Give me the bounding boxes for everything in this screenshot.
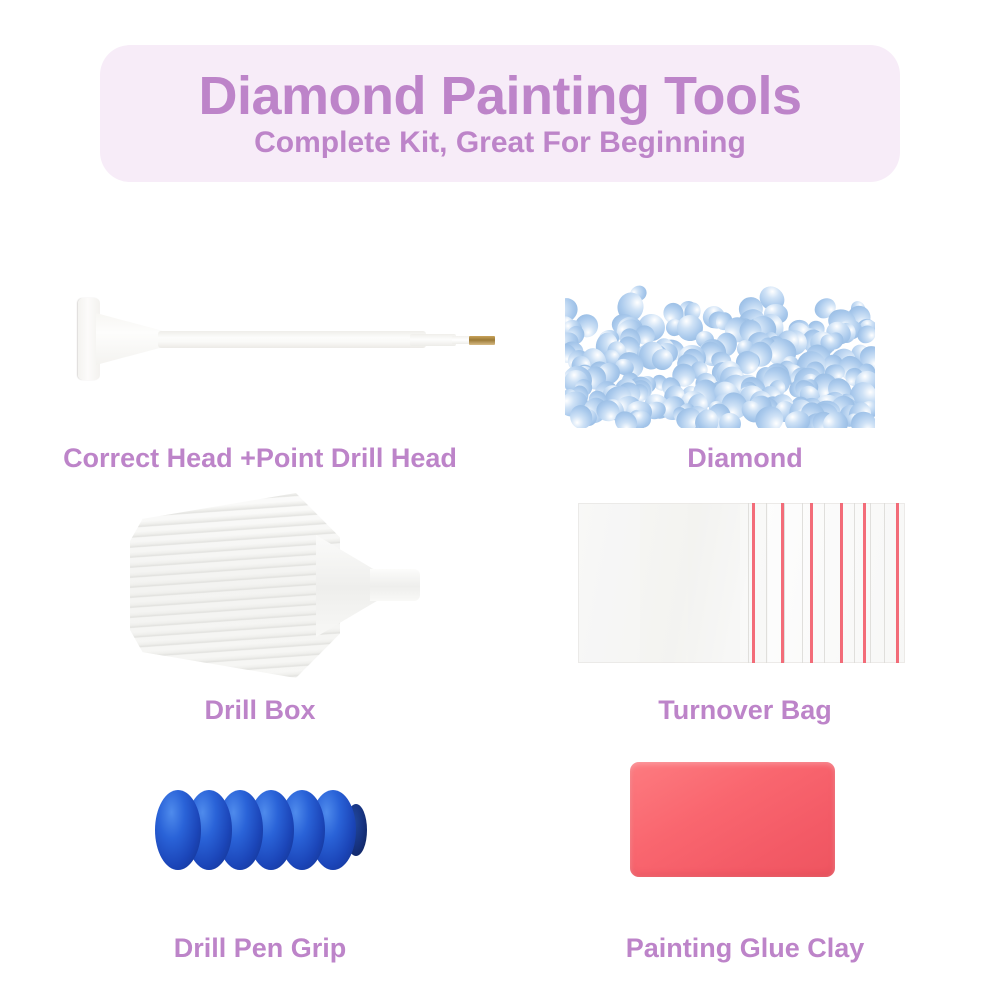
drill-bead <box>851 412 875 428</box>
item-turnover-bag: Turnover Bag <box>510 475 980 725</box>
bag-fold <box>802 503 803 663</box>
bag-red-stripe <box>752 503 755 663</box>
bag-fold <box>870 503 871 663</box>
bag-fold <box>766 503 767 663</box>
zip-bag-stack <box>578 503 905 663</box>
bag-fold <box>784 503 785 663</box>
bag-panel <box>640 503 688 663</box>
tray-neck <box>316 535 378 637</box>
grooved-drill-tray-icon <box>20 475 500 725</box>
pen-gold-tip-icon <box>469 336 495 345</box>
bag-fold <box>854 503 855 663</box>
pen-barrel <box>158 331 426 348</box>
item-label-drill-box: Drill Box <box>20 697 500 724</box>
pen-neck <box>96 313 162 365</box>
item-label-diamond: Diamond <box>510 445 980 472</box>
item-drill-pen-grip: Drill Pen Grip <box>20 740 500 970</box>
bag-red-stripe <box>896 503 899 663</box>
item-correct-head-point-drill-head: Correct Head +Point Drill Head <box>20 230 500 480</box>
item-label-correct-head-point-drill-head: Correct Head +Point Drill Head <box>20 445 500 472</box>
item-label-painting-glue-clay: Painting Glue Clay <box>510 935 980 962</box>
pen-barrel-segment <box>410 334 456 346</box>
bag-red-stripe <box>840 503 843 663</box>
item-label-turnover-bag: Turnover Bag <box>510 697 980 724</box>
item-painting-glue-clay: Painting Glue Clay <box>510 740 980 970</box>
bag-red-stripe <box>781 503 784 663</box>
bag-red-stripe <box>810 503 813 663</box>
bag-fold <box>824 503 825 663</box>
product-items-grid: Correct Head +Point Drill Head Diamond D… <box>0 200 1000 1000</box>
striped-zip-bags-icon <box>510 475 980 725</box>
tray-grooves <box>130 493 340 678</box>
clay-block <box>630 762 835 877</box>
grip-rib <box>155 790 201 870</box>
bag-fold <box>884 503 885 663</box>
bag-panel <box>688 503 740 663</box>
bag-red-stripe <box>863 503 866 663</box>
item-diamond: Diamond <box>510 230 980 480</box>
drill-beads-cluster <box>565 278 875 428</box>
bag-fold <box>748 503 749 663</box>
page-title: Diamond Painting Tools <box>199 68 802 125</box>
item-drill-box: Drill Box <box>20 475 500 725</box>
bag-panel <box>578 503 640 663</box>
tray-handle <box>370 569 420 601</box>
page-subtitle: Complete Kit, Great For Beginning <box>254 126 746 159</box>
item-label-drill-pen-grip: Drill Pen Grip <box>20 935 500 962</box>
header-banner: Diamond Painting Tools Complete Kit, Gre… <box>100 45 900 182</box>
pen-grip-body <box>155 790 365 870</box>
